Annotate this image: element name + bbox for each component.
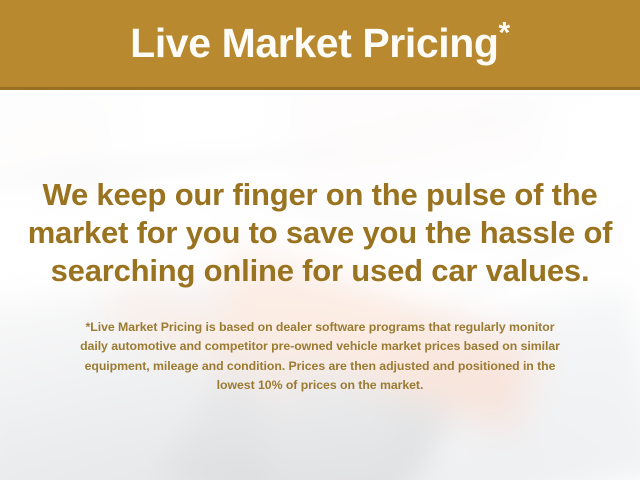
header-band: Live Market Pricing* bbox=[0, 0, 640, 90]
footnote-line-3: equipment, mileage and condition. Prices… bbox=[20, 357, 620, 376]
page-title-asterisk: * bbox=[499, 16, 510, 49]
headline-line-2: market for you to save you the hassle of bbox=[0, 214, 640, 252]
headline-line-1: We keep our finger on the pulse of the bbox=[0, 176, 640, 214]
footnote-line-4: lowest 10% of prices on the market. bbox=[20, 376, 620, 395]
headline-block: We keep our finger on the pulse of the m… bbox=[0, 176, 640, 290]
page-title: Live Market Pricing* bbox=[130, 23, 510, 67]
footnote-line-2: daily automotive and competitor pre-owne… bbox=[20, 337, 620, 356]
footnote-line-1: *Live Market Pricing is based on dealer … bbox=[20, 318, 620, 337]
live-market-pricing-slide: Live Market Pricing* We keep our finger … bbox=[0, 0, 640, 480]
headline-line-3: searching online for used car values. bbox=[0, 252, 640, 290]
page-title-text: Live Market Pricing bbox=[130, 20, 498, 66]
footnote-block: *Live Market Pricing is based on dealer … bbox=[20, 318, 620, 395]
